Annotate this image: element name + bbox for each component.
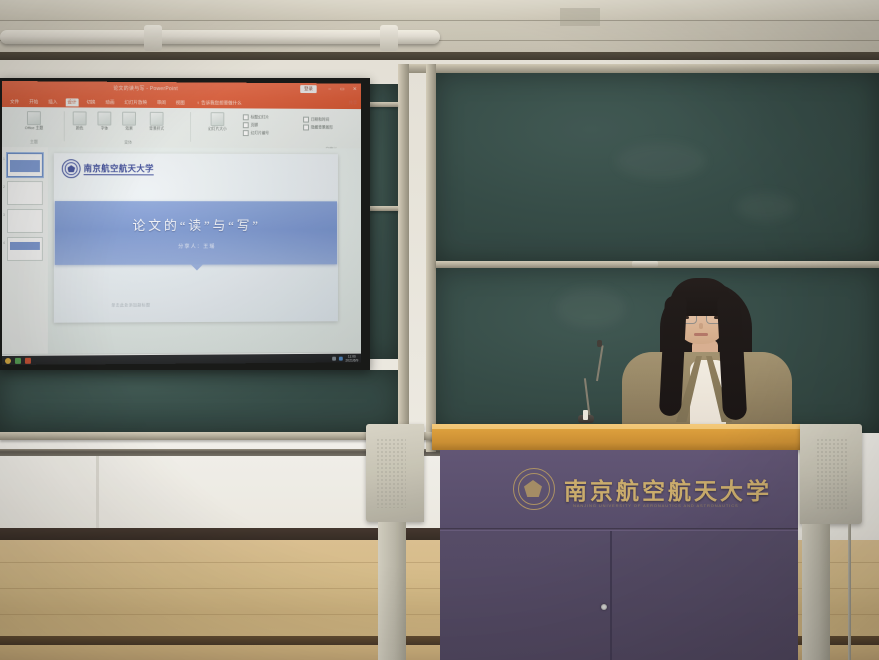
system-tray[interactable]: 11:06 2021/6/9 (332, 354, 358, 362)
tab-transitions[interactable]: 切换 (84, 98, 97, 106)
projected-desktop: 论文的读与写 - PowerPoint 登录 – ▭ ✕ 文件 开始 插入 设计… (2, 81, 361, 365)
variant-effects[interactable]: 效果 (119, 127, 139, 132)
variant-fonts[interactable]: 字体 (94, 126, 114, 131)
close-icon[interactable]: ✕ (351, 86, 358, 93)
slide-title: 论文的“读”与“写” (55, 215, 337, 234)
start-orb-icon[interactable] (5, 357, 11, 363)
slide-thumbnail-3[interactable] (7, 209, 43, 233)
left-speaker-panel (366, 424, 424, 522)
blackboard-panel-sliver (370, 84, 398, 359)
network-icon[interactable] (332, 356, 336, 360)
window-title: 论文的读与写 - PowerPoint (113, 85, 178, 92)
right-speaker-post (802, 524, 830, 660)
ribbon-group-theme-label: 主题 (6, 139, 62, 145)
current-slide[interactable]: 南京航空航天大学 论文的“读”与“写” 分享人：王瑶 单击此处添加副标题 (54, 153, 338, 323)
theme-item-1[interactable]: Office 主题 (6, 126, 62, 131)
blackboard-sliver-clip-mid (370, 206, 398, 211)
slide-thumbnail-pane[interactable]: 1 2 3 4 (2, 147, 49, 354)
restore-icon[interactable]: ▭ (339, 86, 346, 93)
checkbox-icon[interactable] (303, 117, 309, 123)
check-slide-number[interactable]: 幻灯片编号 (243, 130, 296, 136)
tell-me-box[interactable]: ♀ 告诉我您想要做什么 (197, 100, 242, 106)
check-footer[interactable]: 页脚 (243, 122, 296, 128)
blackboard-frame-left (398, 64, 409, 452)
window-controls[interactable]: – ▭ ✕ (326, 86, 358, 93)
tab-review[interactable]: 审阅 (155, 98, 168, 106)
presenter-mouth (694, 333, 708, 336)
classroom-photo: 论文的读与写 - PowerPoint 登录 – ▭ ✕ 文件 开始 插入 设计… (0, 0, 879, 660)
tab-home[interactable]: 开始 (27, 98, 40, 106)
checkbox-icon[interactable] (243, 114, 249, 120)
slide-thumbnail-2[interactable] (7, 181, 43, 205)
powerpoint-taskbar-icon[interactable] (25, 357, 31, 363)
checkbox-icon[interactable] (303, 125, 309, 131)
slide-footer-placeholder: 单击此处添加副标题 (111, 302, 150, 308)
thumbnail-number-4: 4 (3, 241, 5, 245)
slide-university-header: 南京航空航天大学 (62, 159, 154, 178)
variants-icon[interactable] (73, 111, 87, 125)
checkbox-icon[interactable] (243, 130, 249, 136)
wall-panel-seam (96, 456, 99, 528)
microphone-indicator (583, 410, 588, 420)
zoom-slider[interactable] (322, 364, 347, 365)
slide-university-name: 南京航空航天大学 (84, 162, 154, 176)
projection-screen-roller (0, 30, 440, 44)
podium-university-name-en: NANJING UNIVERSITY OF AERONAUTICS AND AS… (573, 503, 739, 508)
check-title-slide[interactable]: 标题幻灯片 (243, 114, 296, 120)
tab-insert[interactable]: 插入 (46, 98, 59, 106)
minimize-icon[interactable]: – (326, 86, 333, 93)
windows-taskbar[interactable]: 11:06 2021/6/9 (2, 354, 361, 365)
slide-thumbnail-1[interactable] (7, 153, 43, 177)
slide-size-caption[interactable]: 幻灯片大小 (196, 127, 239, 132)
slide-canvas[interactable]: 南京航空航天大学 论文的“读”与“写” 分享人：王瑶 单击此处添加副标题 (48, 147, 361, 354)
theme-gallery-icon[interactable] (27, 111, 41, 125)
slide-subtitle: 分享人：王瑶 (55, 243, 337, 250)
nuaa-seal-icon (62, 159, 81, 178)
checkbox-icon[interactable] (243, 122, 249, 128)
tab-design[interactable]: 设计 (65, 98, 78, 106)
slide-size-icon[interactable] (211, 112, 225, 126)
effects-icon[interactable] (122, 112, 136, 126)
account-button[interactable]: 登录 (300, 85, 316, 93)
blackboard-frame-top (398, 64, 879, 73)
background-styles-icon[interactable] (150, 112, 164, 126)
slide-thumbnail-4[interactable] (7, 237, 43, 261)
roller-bracket-left (144, 25, 162, 51)
thumbnail-number-3: 3 (3, 213, 5, 217)
nuaa-seal-emblem-icon (513, 468, 555, 510)
blackboard-frame-rail-mid (426, 64, 436, 452)
podium-panel-seam (440, 528, 798, 531)
chalk-tray-clip (632, 261, 658, 267)
ribbon[interactable]: Office 主题 主题 颜色 字体 效果 (2, 107, 361, 149)
slide-caret-icon (191, 265, 203, 271)
tab-view[interactable]: 视图 (174, 99, 187, 107)
blackboard-sliver-clip-top (370, 102, 398, 107)
zoom-slider-knob[interactable] (337, 362, 340, 365)
volume-icon[interactable] (339, 356, 343, 360)
podium-desktop (432, 424, 802, 450)
check-date-time[interactable]: 日期和时间 (303, 117, 359, 123)
podium-cabinet-lock[interactable] (601, 604, 607, 610)
blackboard-panel-behind-screen (0, 370, 398, 432)
fonts-icon[interactable] (97, 112, 111, 126)
thumbnail-number-1: 1 (3, 157, 5, 161)
microphone-capsule (597, 340, 602, 347)
presenter-nose (699, 323, 703, 329)
speaker-stand-pole (848, 524, 851, 660)
share-button[interactable]: 共享 (349, 100, 358, 106)
check-hide-graphics[interactable]: 隐藏背景图形 (303, 125, 359, 131)
slide-title-band: 论文的“读”与“写” 分享人：王瑶 (55, 201, 337, 265)
blackboard-panel-upper (436, 73, 879, 261)
file-explorer-icon[interactable] (15, 357, 21, 363)
taskbar-clock[interactable]: 11:06 2021/6/9 (345, 354, 358, 362)
podium-cabinet-split (610, 531, 612, 660)
zoom-level-label: 78% (350, 362, 358, 365)
right-speaker-panel (800, 424, 862, 524)
variant-background[interactable]: 背景样式 (144, 127, 170, 132)
roller-bracket-right (380, 25, 398, 51)
ribbon-group-variants-label: 变体 (70, 139, 186, 145)
left-speaker-post (378, 522, 406, 660)
projection-screen: 论文的读与写 - PowerPoint 登录 – ▭ ✕ 文件 开始 插入 设计… (0, 78, 370, 370)
thumbnail-number-2: 2 (3, 185, 5, 189)
tab-file[interactable]: 文件 (8, 98, 21, 106)
variant-colors[interactable]: 颜色 (70, 126, 90, 131)
tab-slideshow[interactable]: 幻灯片放映 (122, 98, 149, 106)
tab-animations[interactable]: 动画 (103, 98, 116, 106)
podium-university-name: 南京航空航天大学 (564, 472, 772, 506)
